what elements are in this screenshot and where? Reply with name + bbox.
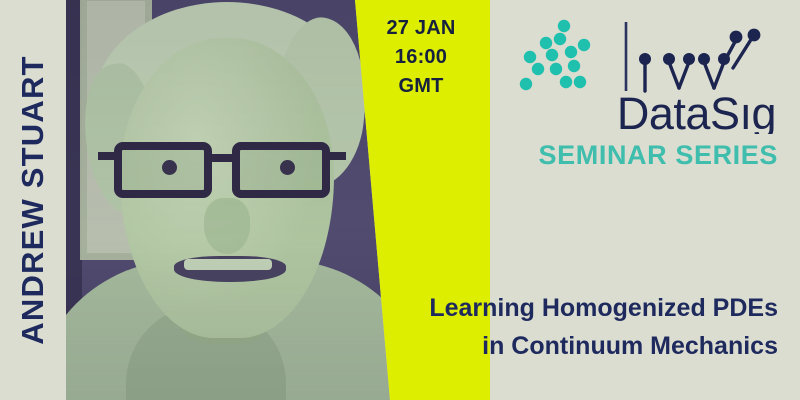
datasig-wordmark: DataSıg — [617, 88, 776, 134]
talk-title-line-1: Learning Homogenized PDEs — [429, 290, 778, 328]
talk-title-line-2: in Continuum Mechanics — [429, 328, 778, 366]
talk-title: Learning Homogenized PDEs in Continuum M… — [429, 290, 778, 365]
event-time: 16:00 — [356, 43, 486, 72]
speaker-portrait-photo — [66, 0, 396, 400]
datasig-logo: DataSıg — [508, 16, 778, 134]
speaker-name: ANDREW STUART — [15, 55, 51, 344]
seminar-poster: ANDREW STUART 27 JAN 16:00 GMT — [0, 0, 800, 400]
event-datetime: 27 JAN 16:00 GMT — [356, 14, 486, 101]
ivy-dot-constellation-icon — [520, 20, 590, 90]
ivy-wordmark-icon — [639, 29, 760, 91]
event-date: 27 JAN — [356, 14, 486, 43]
seminar-series-label: SEMINAR SERIES — [539, 140, 778, 171]
photo-duotone-overlay — [66, 0, 396, 400]
speaker-name-strip: ANDREW STUART — [0, 0, 66, 400]
portrait-artwork — [66, 0, 396, 400]
event-timezone: GMT — [356, 72, 486, 101]
